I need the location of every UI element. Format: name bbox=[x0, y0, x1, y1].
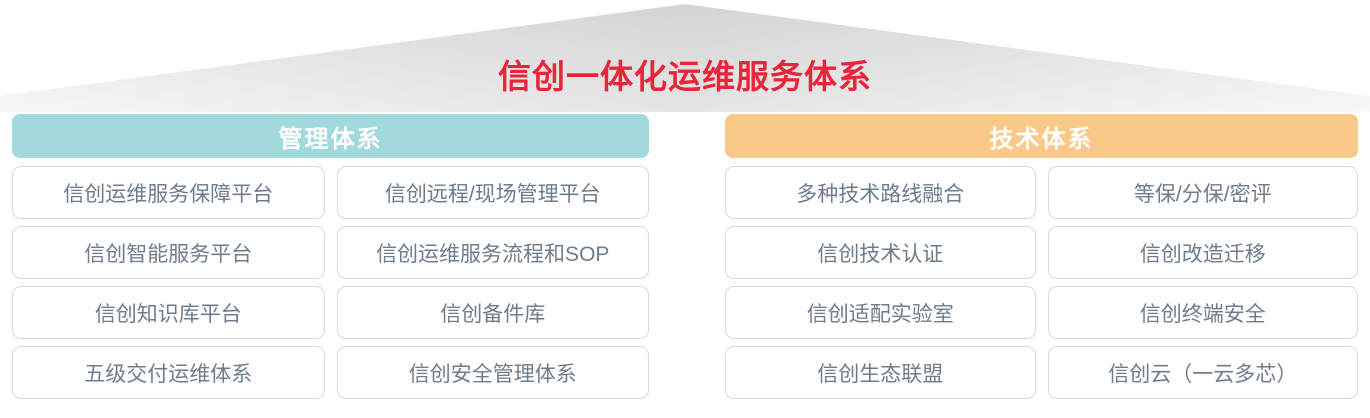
list-item[interactable]: 信创远程/现场管理平台 bbox=[337, 166, 650, 219]
list-item[interactable]: 信创安全管理体系 bbox=[337, 346, 650, 399]
list-item[interactable]: 信创终端安全 bbox=[1048, 286, 1359, 339]
list-item[interactable]: 信创适配实验室 bbox=[725, 286, 1036, 339]
list-item[interactable]: 信创生态联盟 bbox=[725, 346, 1036, 399]
list-item[interactable]: 信创智能服务平台 bbox=[12, 226, 325, 279]
panel-grid-management: 信创运维服务保障平台 信创远程/现场管理平台 信创智能服务平台 信创运维服务流程… bbox=[12, 166, 649, 399]
list-item[interactable]: 信创技术认证 bbox=[725, 226, 1036, 279]
list-item[interactable]: 等保/分保/密评 bbox=[1048, 166, 1359, 219]
list-item[interactable]: 信创知识库平台 bbox=[12, 286, 325, 339]
panel-header-technology: 技术体系 bbox=[725, 114, 1358, 158]
list-item[interactable]: 五级交付运维体系 bbox=[12, 346, 325, 399]
page-title: 信创一体化运维服务体系 bbox=[0, 57, 1370, 97]
list-item[interactable]: 信创运维服务保障平台 bbox=[12, 166, 325, 219]
list-item[interactable]: 多种技术路线融合 bbox=[725, 166, 1036, 219]
panel-management: 管理体系 信创运维服务保障平台 信创远程/现场管理平台 信创智能服务平台 信创运… bbox=[12, 114, 649, 399]
list-item[interactable]: 信创备件库 bbox=[337, 286, 650, 339]
panel-header-management: 管理体系 bbox=[12, 114, 649, 158]
panel-grid-technology: 多种技术路线融合 等保/分保/密评 信创技术认证 信创改造迁移 信创适配实验室 … bbox=[725, 166, 1358, 399]
list-item[interactable]: 信创云（一云多芯） bbox=[1048, 346, 1359, 399]
diagram-canvas: 信创一体化运维服务体系 管理体系 信创运维服务保障平台 信创远程/现场管理平台 … bbox=[0, 0, 1370, 418]
list-item[interactable]: 信创运维服务流程和SOP bbox=[337, 226, 650, 279]
panel-technology: 技术体系 多种技术路线融合 等保/分保/密评 信创技术认证 信创改造迁移 信创适… bbox=[725, 114, 1358, 399]
list-item[interactable]: 信创改造迁移 bbox=[1048, 226, 1359, 279]
